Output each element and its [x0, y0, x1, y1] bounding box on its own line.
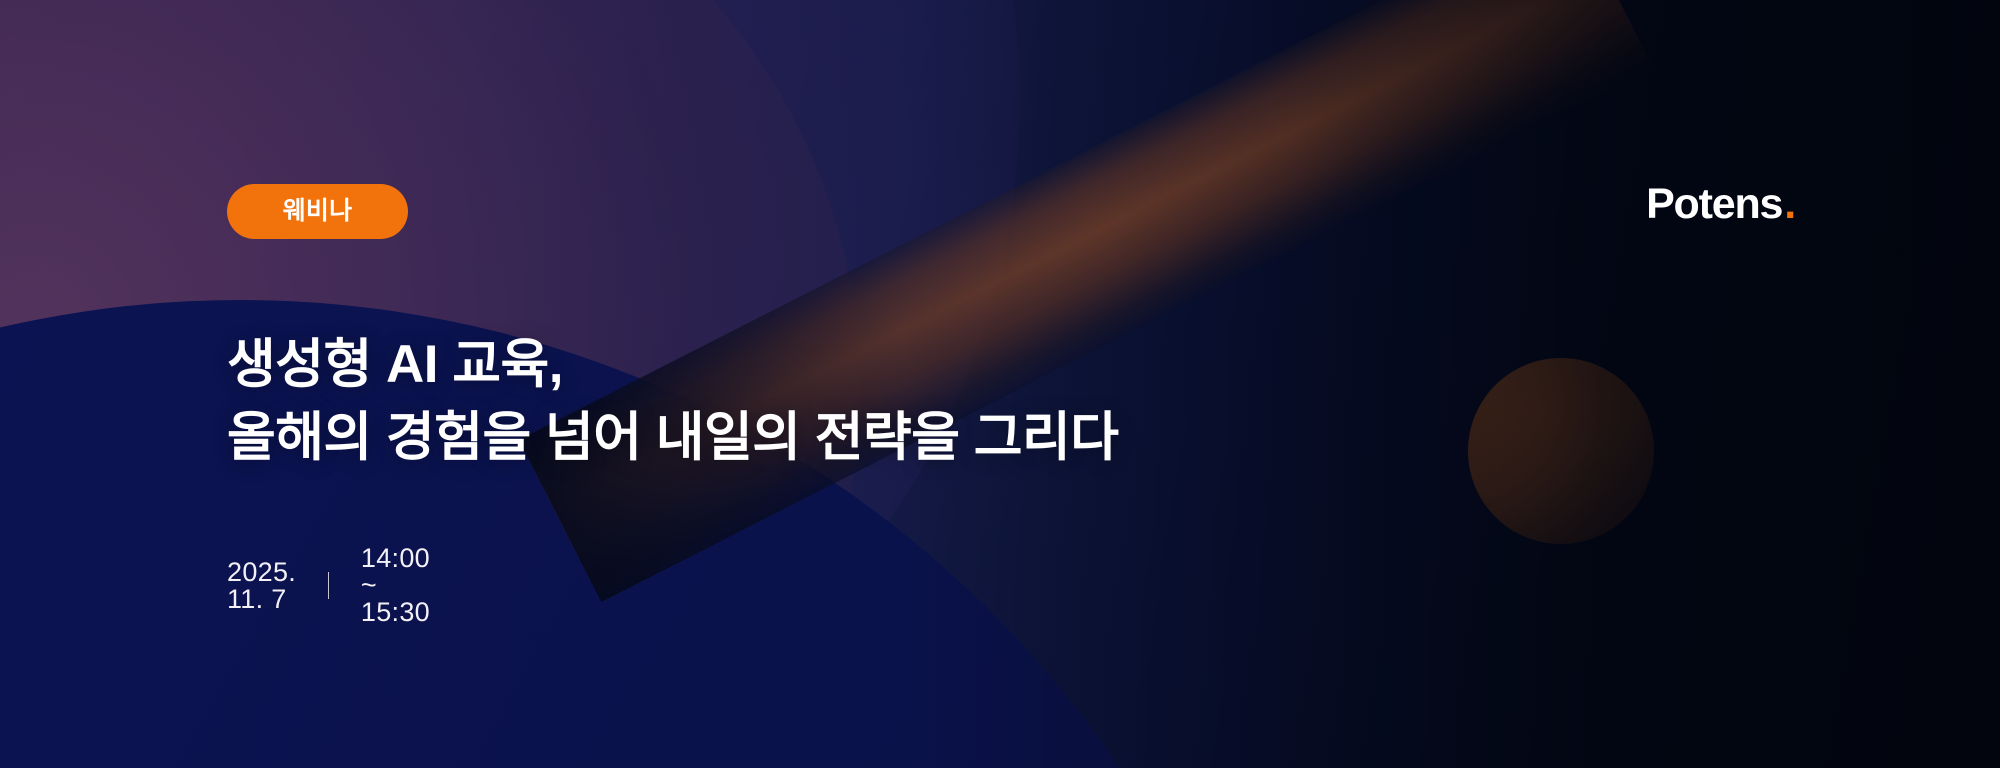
banner-headline: 생성형 AI 교육, 올해의 경험을 넘어 내일의 전략을 그리다 [227, 328, 1119, 474]
category-badge-label: 웨비나 [283, 199, 353, 224]
decorative-orange-sphere [1468, 358, 1654, 544]
event-meta: 2025. 11. 7 14:00 ~ 15:30 [227, 545, 431, 626]
event-date: 2025. 11. 7 [227, 559, 296, 613]
webinar-promo-banner: Potens . 웨비나 생성형 AI 교육, 올해의 경험을 넘어 내일의 전… [0, 0, 2000, 768]
category-badge-webinar: 웨비나 [227, 184, 408, 239]
logo-dot: . [1784, 183, 1795, 226]
potens-logo[interactable]: Potens . [1646, 183, 1795, 226]
event-time: 14:00 ~ 15:30 [361, 545, 431, 626]
logo-wordmark: Potens [1646, 183, 1782, 226]
headline-line-2: 올해의 경험을 넘어 내일의 전략을 그리다 [227, 401, 1119, 474]
meta-separator [328, 572, 329, 599]
decorative-sphere-shading [1468, 358, 1654, 544]
headline-line-1: 생성형 AI 교육, [227, 328, 1119, 401]
